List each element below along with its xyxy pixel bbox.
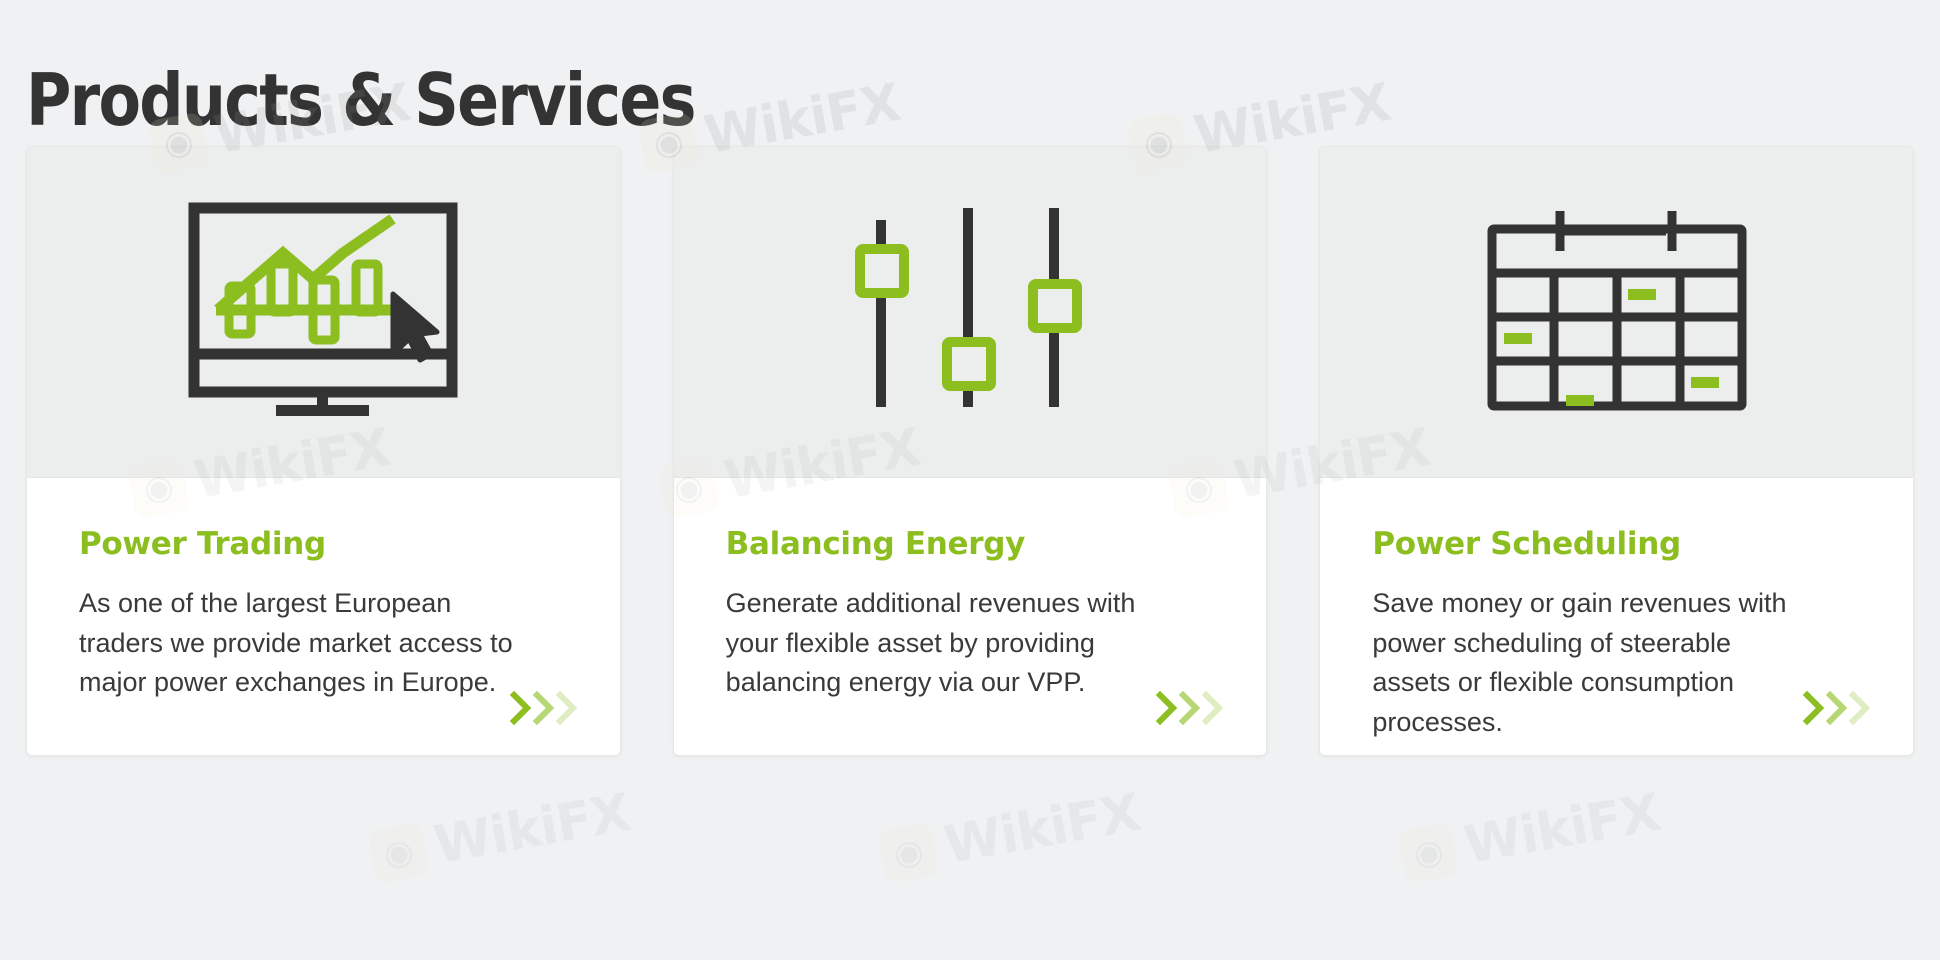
watermark: ◉ WikiFX — [877, 783, 1145, 887]
card-description: As one of the largest European traders w… — [79, 584, 519, 703]
read-more-arrow[interactable] — [1156, 691, 1224, 725]
card-title: Balancing Energy — [726, 526, 1215, 562]
card-grid: Power Trading As one of the largest Euro… — [26, 146, 1914, 756]
watermark-badge-icon: ◉ — [877, 822, 940, 885]
card-body: Balancing Energy Generate additional rev… — [674, 478, 1267, 755]
read-more-arrow[interactable] — [510, 691, 578, 725]
vertical-sliders-icon — [855, 202, 1085, 422]
chevron-right-icon — [1156, 691, 1178, 725]
card-description: Save money or gain revenues with power s… — [1372, 584, 1812, 743]
watermark-text: WikiFX — [1460, 783, 1665, 876]
read-more-arrow[interactable] — [1803, 691, 1871, 725]
watermark-badge-icon: ◉ — [367, 822, 430, 885]
watermark-text: WikiFX — [940, 783, 1145, 876]
watermark-badge-icon: ◉ — [1397, 822, 1460, 885]
card-icon-area — [27, 147, 620, 478]
chevron-right-icon — [1849, 691, 1871, 725]
card-icon-area — [674, 147, 1267, 478]
chevron-right-icon — [1826, 691, 1848, 725]
product-card[interactable]: Balancing Energy Generate additional rev… — [673, 146, 1268, 756]
product-card[interactable]: Power Scheduling Save money or gain reve… — [1319, 146, 1914, 756]
card-body: Power Trading As one of the largest Euro… — [27, 478, 620, 755]
chevron-right-icon — [1803, 691, 1825, 725]
chevron-right-icon — [1179, 691, 1201, 725]
card-body: Power Scheduling Save money or gain reve… — [1320, 478, 1913, 755]
schedule-table-icon — [1486, 207, 1748, 417]
page-title: Products & Services — [26, 58, 695, 142]
card-description: Generate additional revenues with your f… — [726, 584, 1166, 703]
watermark: ◉ WikiFX — [367, 783, 635, 887]
monitor-trading-chart-icon — [188, 202, 458, 422]
watermark: ◉ WikiFX — [1397, 783, 1665, 887]
chevron-right-icon — [556, 691, 578, 725]
chevron-right-icon — [533, 691, 555, 725]
card-title: Power Scheduling — [1372, 526, 1861, 562]
product-card[interactable]: Power Trading As one of the largest Euro… — [26, 146, 621, 756]
watermark-text: WikiFX — [430, 783, 635, 876]
card-icon-area — [1320, 147, 1913, 478]
chevron-right-icon — [510, 691, 532, 725]
chevron-right-icon — [1202, 691, 1224, 725]
card-title: Power Trading — [79, 526, 568, 562]
